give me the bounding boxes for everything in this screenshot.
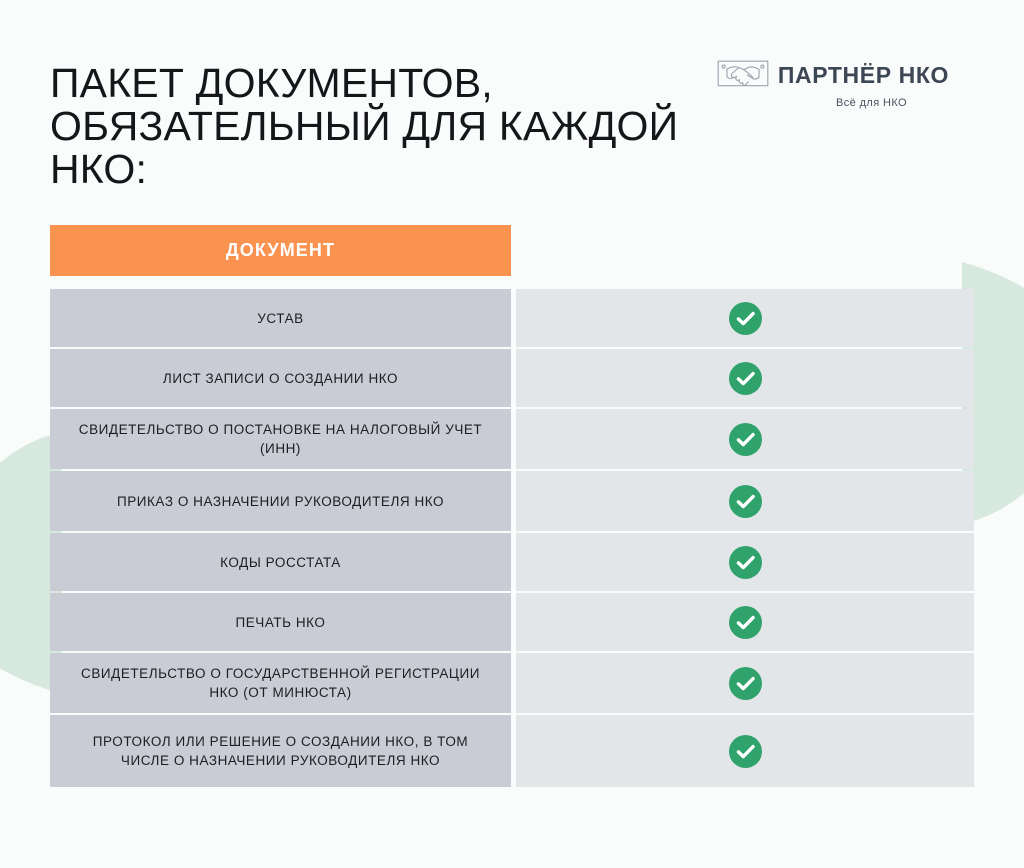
document-name-label: СВИДЕТЕЛЬСТВО О ПОСТАНОВКЕ НА НАЛОГОВЫЙ … <box>72 420 489 458</box>
cell-status <box>516 653 974 713</box>
cell-status <box>516 471 974 531</box>
cell-document-name: ЛИСТ ЗАПИСИ О СОЗДАНИИ НКО <box>50 349 511 407</box>
cell-document-name: УСТАВ <box>50 289 511 347</box>
check-circle-icon <box>729 423 762 456</box>
table-row: ЛИСТ ЗАПИСИ О СОЗДАНИИ НКО <box>50 349 974 407</box>
cell-status <box>516 593 974 651</box>
cell-document-name: КОДЫ РОССТАТА <box>50 533 511 591</box>
check-circle-icon <box>729 606 762 639</box>
check-circle-icon <box>729 362 762 395</box>
cell-document-name: СВИДЕТЕЛЬСТВО О ПОСТАНОВКЕ НА НАЛОГОВЫЙ … <box>50 409 511 469</box>
document-name-label: ПРИКАЗ О НАЗНАЧЕНИИ РУКОВОДИТЕЛЯ НКО <box>117 492 444 511</box>
column-header-document-label: ДОКУМЕНТ <box>226 240 335 261</box>
logo-tagline: Всё для НКО <box>836 97 907 109</box>
document-name-label: ПЕЧАТЬ НКО <box>236 613 326 632</box>
page-title: ПАКЕТ ДОКУМЕНТОВ, ОБЯЗАТЕЛЬНЫЙ ДЛЯ КАЖДО… <box>50 62 710 191</box>
table-body: УСТАВЛИСТ ЗАПИСИ О СОЗДАНИИ НКОСВИДЕТЕЛЬ… <box>50 289 974 787</box>
document-name-label: КОДЫ РОССТАТА <box>220 553 341 572</box>
logo-row: ПАРТНЁР НКО <box>717 58 949 92</box>
cell-document-name: ПЕЧАТЬ НКО <box>50 593 511 651</box>
column-header-status-spacer <box>516 225 974 276</box>
table-row: КОДЫ РОССТАТА <box>50 533 974 591</box>
check-circle-icon <box>729 546 762 579</box>
cell-document-name: ПРИКАЗ О НАЗНАЧЕНИИ РУКОВОДИТЕЛЯ НКО <box>50 471 511 531</box>
table-row: ПЕЧАТЬ НКО <box>50 593 974 651</box>
brand-logo: ПАРТНЁР НКО Всё для НКО <box>717 58 949 109</box>
cell-status <box>516 533 974 591</box>
check-circle-icon <box>729 735 762 768</box>
check-circle-icon <box>729 667 762 700</box>
table-row: СВИДЕТЕЛЬСТВО О ПОСТАНОВКЕ НА НАЛОГОВЫЙ … <box>50 409 974 469</box>
document-name-label: ЛИСТ ЗАПИСИ О СОЗДАНИИ НКО <box>163 369 398 388</box>
check-circle-icon <box>729 302 762 335</box>
document-name-label: ПРОТОКОЛ ИЛИ РЕШЕНИЕ О СОЗДАНИИ НКО, В Т… <box>72 732 489 770</box>
document-name-label: СВИДЕТЕЛЬСТВО О ГОСУДАРСТВЕННОЙ РЕГИСТРА… <box>72 664 489 702</box>
document-name-label: УСТАВ <box>257 309 303 328</box>
table-row: УСТАВ <box>50 289 974 347</box>
column-header-document: ДОКУМЕНТ <box>50 225 511 276</box>
handshake-icon <box>717 58 769 92</box>
table-header-row: ДОКУМЕНТ <box>50 225 974 276</box>
cell-document-name: СВИДЕТЕЛЬСТВО О ГОСУДАРСТВЕННОЙ РЕГИСТРА… <box>50 653 511 713</box>
cell-status <box>516 289 974 347</box>
table-row: СВИДЕТЕЛЬСТВО О ГОСУДАРСТВЕННОЙ РЕГИСТРА… <box>50 653 974 713</box>
cell-status <box>516 349 974 407</box>
logo-name: ПАРТНЁР НКО <box>778 64 949 87</box>
cell-status <box>516 409 974 469</box>
page-header: ПАКЕТ ДОКУМЕНТОВ, ОБЯЗАТЕЛЬНЫЙ ДЛЯ КАЖДО… <box>0 0 1024 215</box>
documents-table: ДОКУМЕНТ УСТАВЛИСТ ЗАПИСИ О СОЗДАНИИ НКО… <box>50 225 974 789</box>
table-row: ПРОТОКОЛ ИЛИ РЕШЕНИЕ О СОЗДАНИИ НКО, В Т… <box>50 715 974 787</box>
table-row: ПРИКАЗ О НАЗНАЧЕНИИ РУКОВОДИТЕЛЯ НКО <box>50 471 974 531</box>
cell-status <box>516 715 974 787</box>
check-circle-icon <box>729 485 762 518</box>
cell-document-name: ПРОТОКОЛ ИЛИ РЕШЕНИЕ О СОЗДАНИИ НКО, В Т… <box>50 715 511 787</box>
